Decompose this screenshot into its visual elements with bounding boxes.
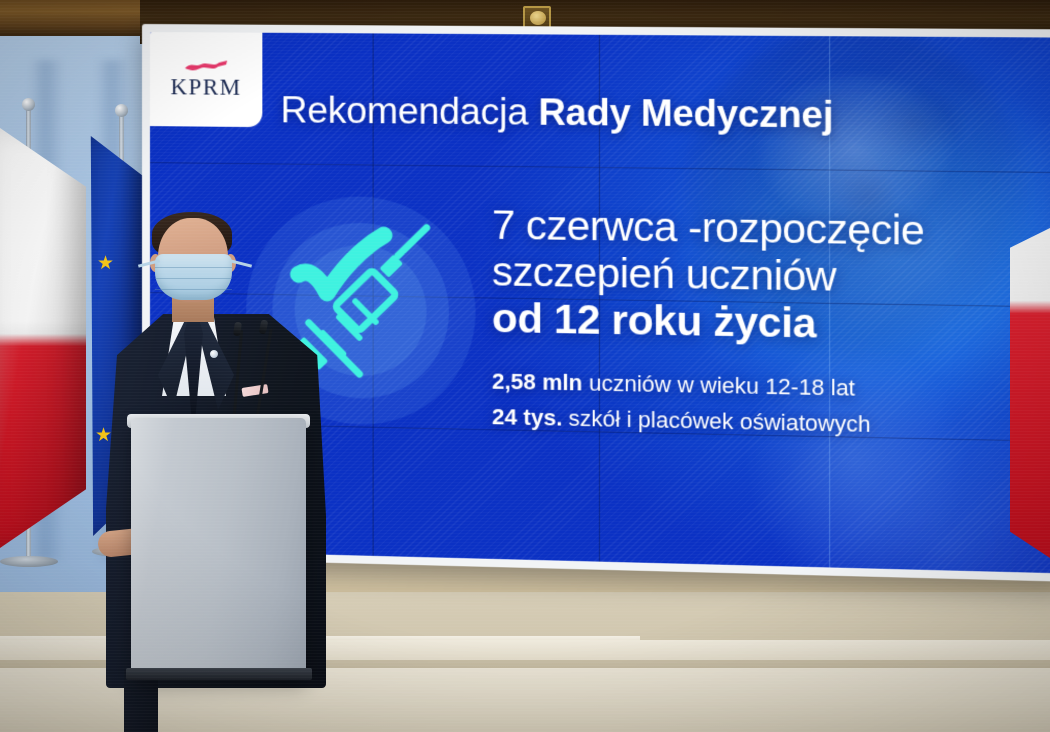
slide-stats: 2,58 mln uczniów w wieku 12-18 lat 24 ty… [492, 364, 1046, 446]
flagpole-finial-poland [22, 98, 35, 111]
face-mask [155, 254, 232, 300]
headline-line-bold: od 12 roku życia [492, 295, 1035, 351]
headline-line-1: 7 czerwca -rozpoczęcie [492, 201, 924, 254]
mask-pleat [155, 267, 232, 268]
stat-value: 2,58 mln [492, 368, 583, 395]
lectern [131, 418, 306, 678]
kprm-logo: KPRM [150, 32, 262, 127]
lapel-pin-icon [210, 350, 218, 358]
mask-pleat [155, 289, 232, 290]
slide-title: Rekomendacja Rady Medycznej [280, 89, 833, 137]
press-conference-scene: ★ ★ [0, 0, 1050, 732]
mask-pleat [155, 278, 232, 279]
slide-title-bold: Rady Medycznej [538, 91, 833, 135]
slide-headline: 7 czerwca -rozpoczęcie szczepień uczniów… [492, 202, 1035, 351]
stat-label: uczniów w wieku 12-18 lat [582, 370, 855, 401]
slide-title-regular: Rekomendacja [280, 89, 538, 133]
kprm-mark-icon [183, 58, 229, 72]
poland-flag-right [1010, 228, 1050, 558]
stat-label: szkół i placówek oświatowych [562, 405, 870, 437]
kprm-logo-text: KPRM [171, 74, 242, 101]
poland-flag-fold [0, 128, 86, 548]
flag-stand-poland [0, 556, 58, 567]
headline-line-2: szczepień uczniów [492, 248, 836, 300]
lectern-base [126, 668, 312, 680]
flagpole-finial-eu [115, 104, 128, 117]
stat-value: 24 tys. [492, 404, 562, 431]
